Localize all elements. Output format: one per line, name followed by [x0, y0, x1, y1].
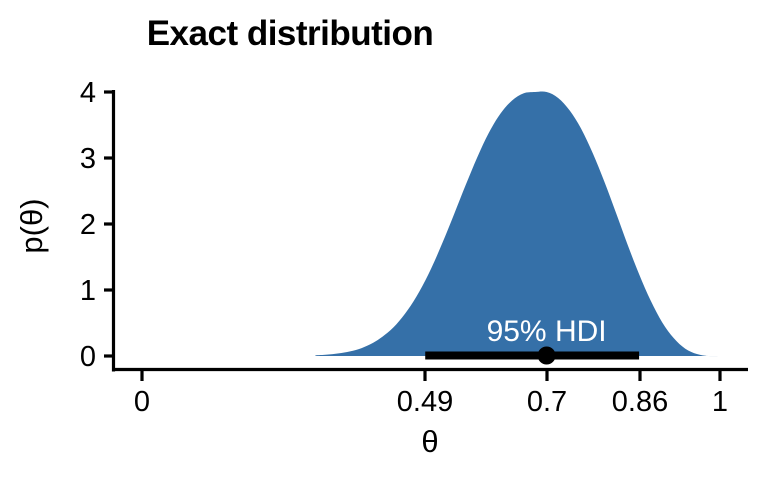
x-tick-label-049: 0.49: [397, 386, 453, 418]
x-tick-label-086: 0.86: [612, 386, 668, 418]
hdi-label: 95% HDI: [487, 315, 607, 348]
y-tick-label-0: 0: [80, 341, 96, 373]
hdi-point-estimate-dot: [538, 347, 556, 365]
x-tick-label-07: 0.7: [527, 386, 567, 418]
y-tick-label-2: 2: [80, 209, 96, 241]
x-axis-label: θ: [421, 424, 438, 459]
y-tick-label-4: 4: [80, 77, 96, 109]
distribution-plot: 0 1 2 3 4 0 0.49 0.7 0.86 1 θ p(θ) 95% H…: [0, 0, 768, 480]
x-tick-label-0: 0: [134, 386, 150, 418]
y-tick-label-3: 3: [80, 143, 96, 175]
x-tick-label-1: 1: [712, 386, 728, 418]
y-axis-label: p(θ): [14, 198, 49, 253]
y-tick-label-1: 1: [80, 275, 96, 307]
chart-canvas: Exact distribution 0 1 2 3 4 0 0.49 0.7 …: [0, 0, 768, 480]
tail-fade-right: [706, 348, 768, 357]
